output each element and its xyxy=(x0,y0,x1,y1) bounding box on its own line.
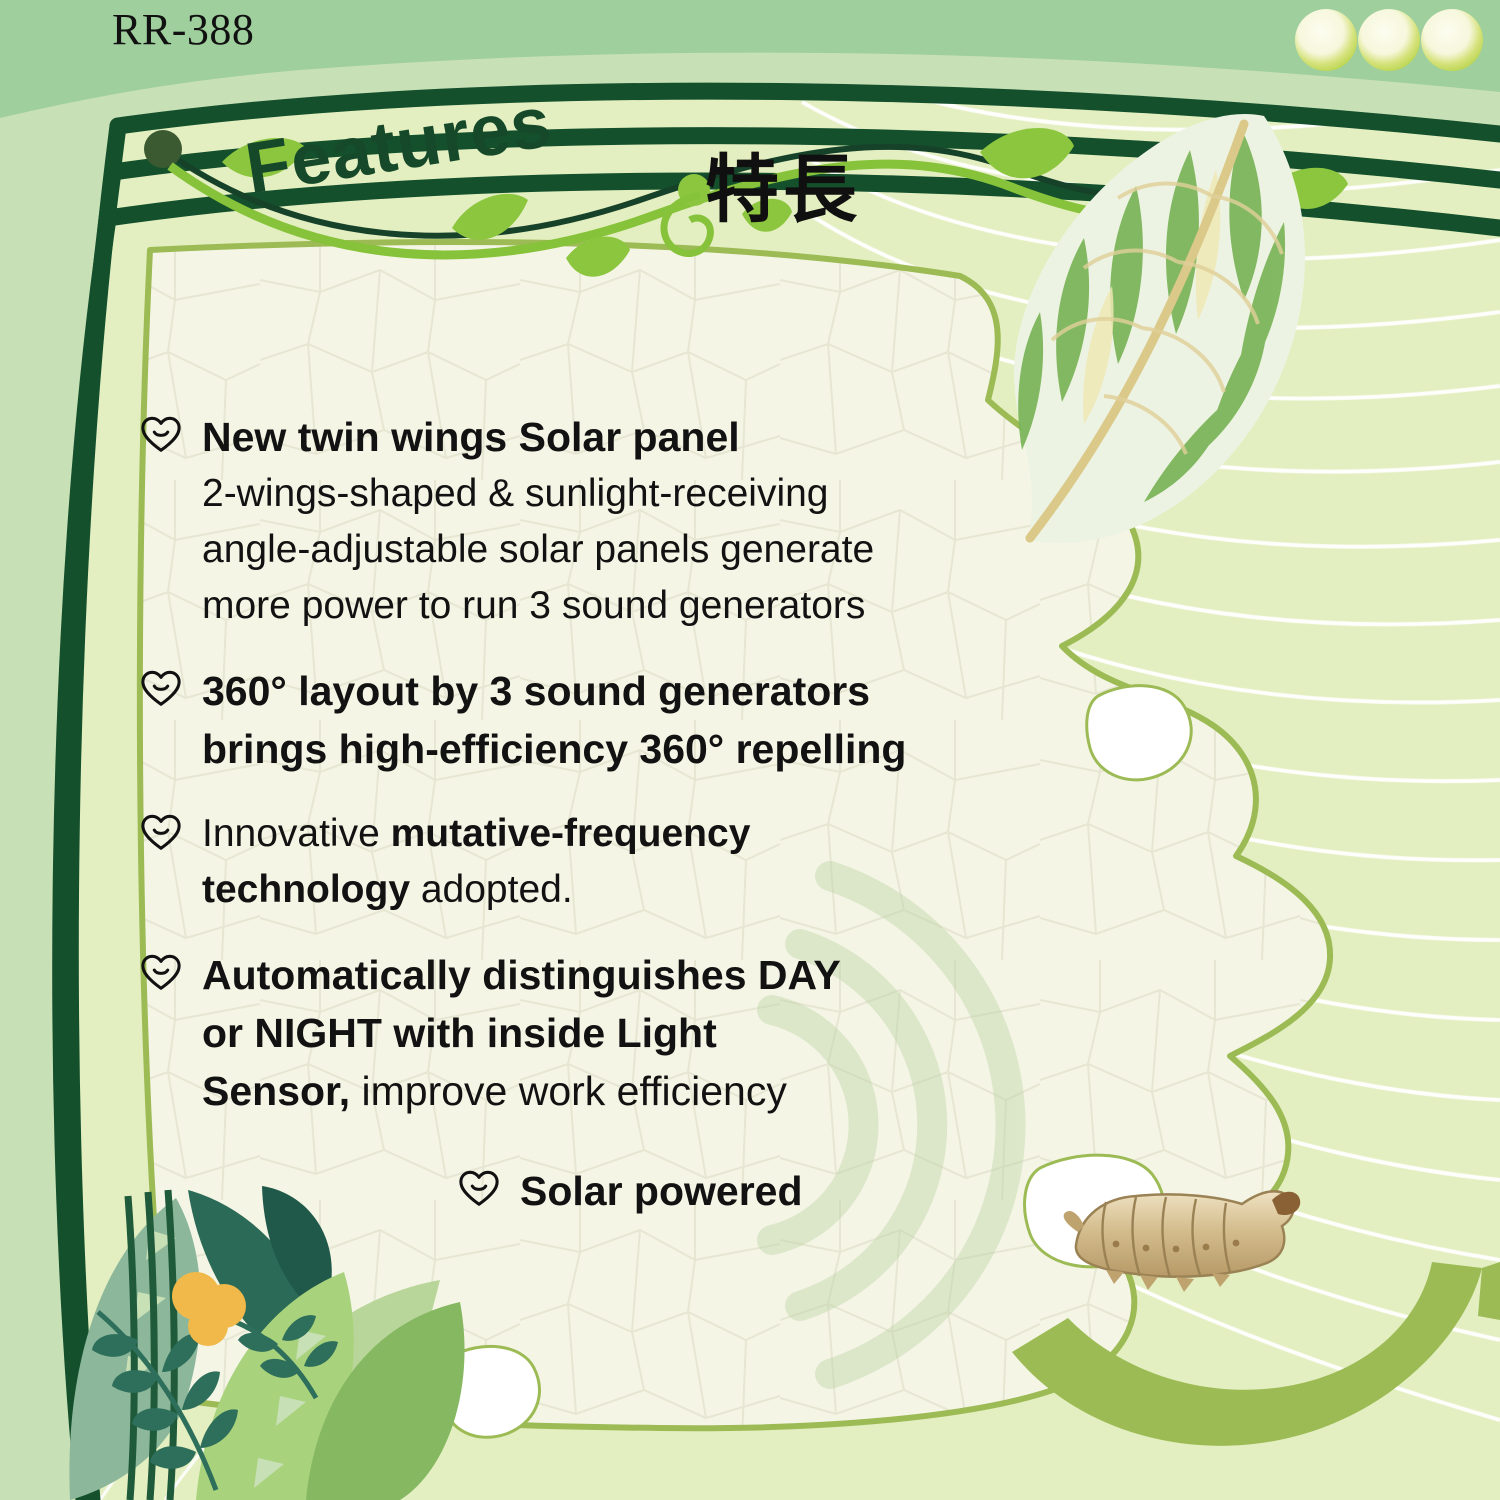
feature-item: Solar powered xyxy=(458,1162,1080,1220)
model-code: RR-388 xyxy=(112,4,254,56)
feature-line: or NIGHT with inside Light xyxy=(202,1004,1080,1062)
text-run-regular: angle-adjustable solar panels generate xyxy=(202,528,874,571)
feature-text: Automatically distinguishes DAYor NIGHT … xyxy=(140,946,1080,1120)
text-run-bold: Solar powered xyxy=(520,1168,803,1214)
smiling-heart-icon xyxy=(140,414,182,456)
feature-line: angle-adjustable solar panels generate xyxy=(202,522,1080,578)
feature-list: New twin wings Solar panel2-wings-shaped… xyxy=(140,408,1080,1248)
text-run-bold: Sensor, xyxy=(202,1068,362,1114)
text-run-regular: improve work efficiency xyxy=(362,1068,787,1114)
feature-text: Innovative mutative-frequencytechnology … xyxy=(140,806,1080,918)
text-run-bold: Automatically distinguishes DAY xyxy=(202,952,841,998)
text-run-bold: 360° layout by 3 sound generators xyxy=(202,668,870,714)
feature-line: 360° layout by 3 sound generators xyxy=(202,662,1080,720)
smiling-heart-icon xyxy=(140,812,182,854)
feature-item: Automatically distinguishes DAYor NIGHT … xyxy=(140,946,1080,1120)
feature-line: technology adopted. xyxy=(202,862,1080,918)
feature-item: 360° layout by 3 sound generatorsbrings … xyxy=(140,662,1080,778)
feature-line: 2-wings-shaped & sunlight-receiving xyxy=(202,466,1080,522)
feature-line: Sensor, improve work efficiency xyxy=(202,1062,1080,1120)
feature-line: Solar powered xyxy=(520,1162,1080,1220)
smiling-heart-icon xyxy=(458,1168,500,1210)
text-run-regular: adopted. xyxy=(421,868,573,911)
text-run-bold: mutative-frequency xyxy=(391,812,751,855)
smiling-heart-icon xyxy=(140,668,182,710)
feature-line: Innovative mutative-frequency xyxy=(202,806,1080,862)
feature-line: more power to run 3 sound generators xyxy=(202,578,1080,634)
feature-text: Solar powered xyxy=(458,1162,1080,1220)
feature-item: Innovative mutative-frequencytechnology … xyxy=(140,806,1080,918)
text-run-regular: more power to run 3 sound generators xyxy=(202,584,865,627)
feature-text: 360° layout by 3 sound generatorsbrings … xyxy=(140,662,1080,778)
text-run-regular: Innovative xyxy=(202,812,391,855)
feature-item: New twin wings Solar panel2-wings-shaped… xyxy=(140,408,1080,634)
feature-poster: RR-388 Features 特長 New twin wings Solar … xyxy=(0,0,1500,1500)
feature-line: Automatically distinguishes DAY xyxy=(202,946,1080,1004)
text-run-bold: or NIGHT with inside Light xyxy=(202,1010,717,1056)
feature-line: New twin wings Solar panel xyxy=(202,408,1080,466)
feature-text: New twin wings Solar panel2-wings-shaped… xyxy=(140,408,1080,634)
text-run-bold: brings high-efficiency 360° repelling xyxy=(202,726,906,772)
text-run-regular: 2-wings-shaped & sunlight-receiving xyxy=(202,472,829,515)
smiling-heart-icon xyxy=(140,952,182,994)
text-run-bold: New twin wings Solar panel xyxy=(202,414,740,460)
text-run-bold: technology xyxy=(202,868,421,911)
feature-line: brings high-efficiency 360° repelling xyxy=(202,720,1080,778)
